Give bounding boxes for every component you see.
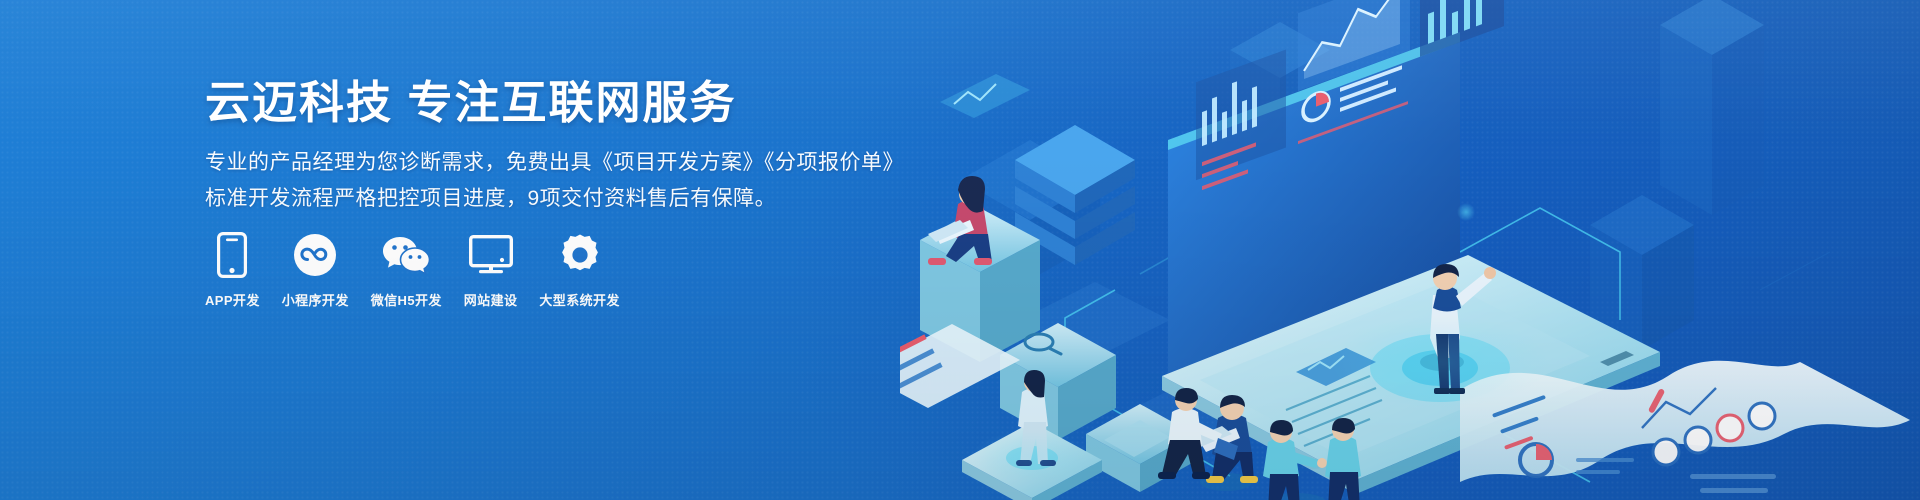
monitor-icon (469, 232, 513, 278)
subtitle-line-1: 专业的产品经理为您诊断需求，免费出具《项目开发方案》《分项报价单》 (205, 146, 904, 176)
isometric-tech-illustration (900, 0, 1920, 500)
mini-program-icon (293, 232, 337, 278)
page-title: 云迈科技 专注互联网服务 (205, 76, 737, 130)
chat-bubble-right (940, 74, 1030, 118)
service-label: 大型系统开发 (539, 290, 619, 309)
service-label: 小程序开发 (282, 290, 349, 309)
mobile-phone-icon (217, 232, 247, 278)
service-item-wechat[interactable]: 微信H5开发 (371, 232, 442, 309)
hero-banner: 云迈科技 专注互联网服务 专业的产品经理为您诊断需求，免费出具《项目开发方案》《… (0, 0, 1920, 500)
service-label: 网站建设 (464, 290, 518, 309)
subtitle-line-2: 标准开发流程严格把控项目进度，9项交付资料售后有保障。 (205, 182, 776, 212)
service-list: APP开发 小程序开发 (205, 232, 642, 309)
service-item-large-system[interactable]: 大型系统开发 (539, 232, 619, 309)
wechat-icon (381, 232, 431, 278)
service-item-mini-program[interactable]: 小程序开发 (282, 232, 349, 309)
service-label: APP开发 (205, 290, 260, 309)
service-item-website[interactable]: 网站建设 (464, 232, 518, 309)
service-label: 微信H5开发 (371, 290, 442, 309)
service-item-app[interactable]: APP开发 (205, 232, 260, 309)
banner-copy: 云迈科技 专注互联网服务 专业的产品经理为您诊断需求，免费出具《项目开发方案》《… (205, 0, 905, 500)
gear-icon (558, 232, 602, 278)
